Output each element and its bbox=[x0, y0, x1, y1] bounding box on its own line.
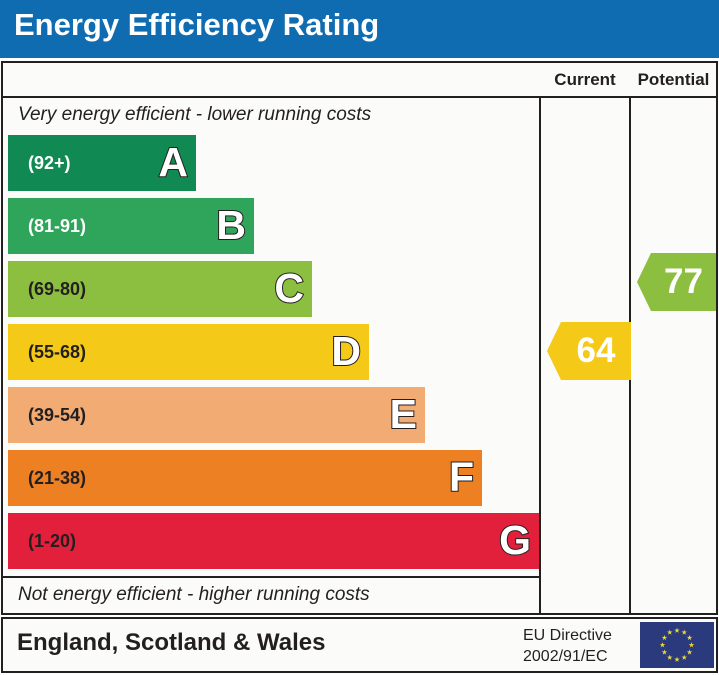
band-b-range: (81-91) bbox=[28, 198, 86, 254]
band-c-letter: C bbox=[274, 259, 304, 317]
page-title: Energy Efficiency Rating bbox=[14, 7, 379, 43]
footer-directive-line1: EU Directive bbox=[523, 625, 631, 646]
potential-rating-value: 77 bbox=[651, 253, 716, 311]
band-d-range: (55-68) bbox=[28, 324, 86, 380]
rating-bands: (92+) A (81-91) B (69-80) C (55-68) D (3… bbox=[3, 135, 539, 577]
current-rating-marker: 64 bbox=[547, 322, 631, 380]
footer-directive: EU Directive 2002/91/EC bbox=[523, 625, 631, 667]
potential-rating-marker: 77 bbox=[637, 253, 716, 311]
chart-body: Current Potential Very energy efficient … bbox=[1, 61, 718, 615]
column-header-row: Current Potential bbox=[3, 63, 716, 98]
band-g-letter: G bbox=[499, 511, 531, 569]
band-d: (55-68) D bbox=[8, 324, 369, 380]
band-e-range: (39-54) bbox=[28, 387, 86, 443]
column-divider-current bbox=[539, 63, 541, 613]
epc-energy-efficiency-chart: Energy Efficiency Rating Current Potenti… bbox=[0, 0, 719, 675]
band-g: (1-20) G bbox=[8, 513, 539, 569]
current-rating-value: 64 bbox=[561, 322, 631, 380]
band-c-range: (69-80) bbox=[28, 261, 86, 317]
eu-flag-icon bbox=[640, 622, 714, 668]
band-e-letter: E bbox=[390, 385, 417, 443]
band-c: (69-80) C bbox=[8, 261, 312, 317]
caption-not-efficient: Not energy efficient - higher running co… bbox=[3, 578, 539, 612]
column-header-potential: Potential bbox=[631, 63, 716, 96]
band-f-letter: F bbox=[449, 448, 474, 506]
band-f: (21-38) F bbox=[8, 450, 482, 506]
band-e: (39-54) E bbox=[8, 387, 425, 443]
footer-directive-line2: 2002/91/EC bbox=[523, 646, 631, 667]
column-header-current: Current bbox=[541, 63, 629, 96]
footer: England, Scotland & Wales EU Directive 2… bbox=[1, 617, 718, 673]
band-b: (81-91) B bbox=[8, 198, 254, 254]
band-g-range: (1-20) bbox=[28, 513, 76, 569]
band-f-range: (21-38) bbox=[28, 450, 86, 506]
footer-region-label: England, Scotland & Wales bbox=[17, 629, 325, 657]
caption-very-efficient: Very energy efficient - lower running co… bbox=[3, 98, 539, 132]
title-bar: Energy Efficiency Rating bbox=[0, 0, 719, 58]
band-d-letter: D bbox=[331, 322, 361, 380]
band-b-letter: B bbox=[216, 196, 246, 254]
band-a-letter: A bbox=[158, 133, 188, 191]
band-a: (92+) A bbox=[8, 135, 196, 191]
band-a-range: (92+) bbox=[28, 135, 71, 191]
